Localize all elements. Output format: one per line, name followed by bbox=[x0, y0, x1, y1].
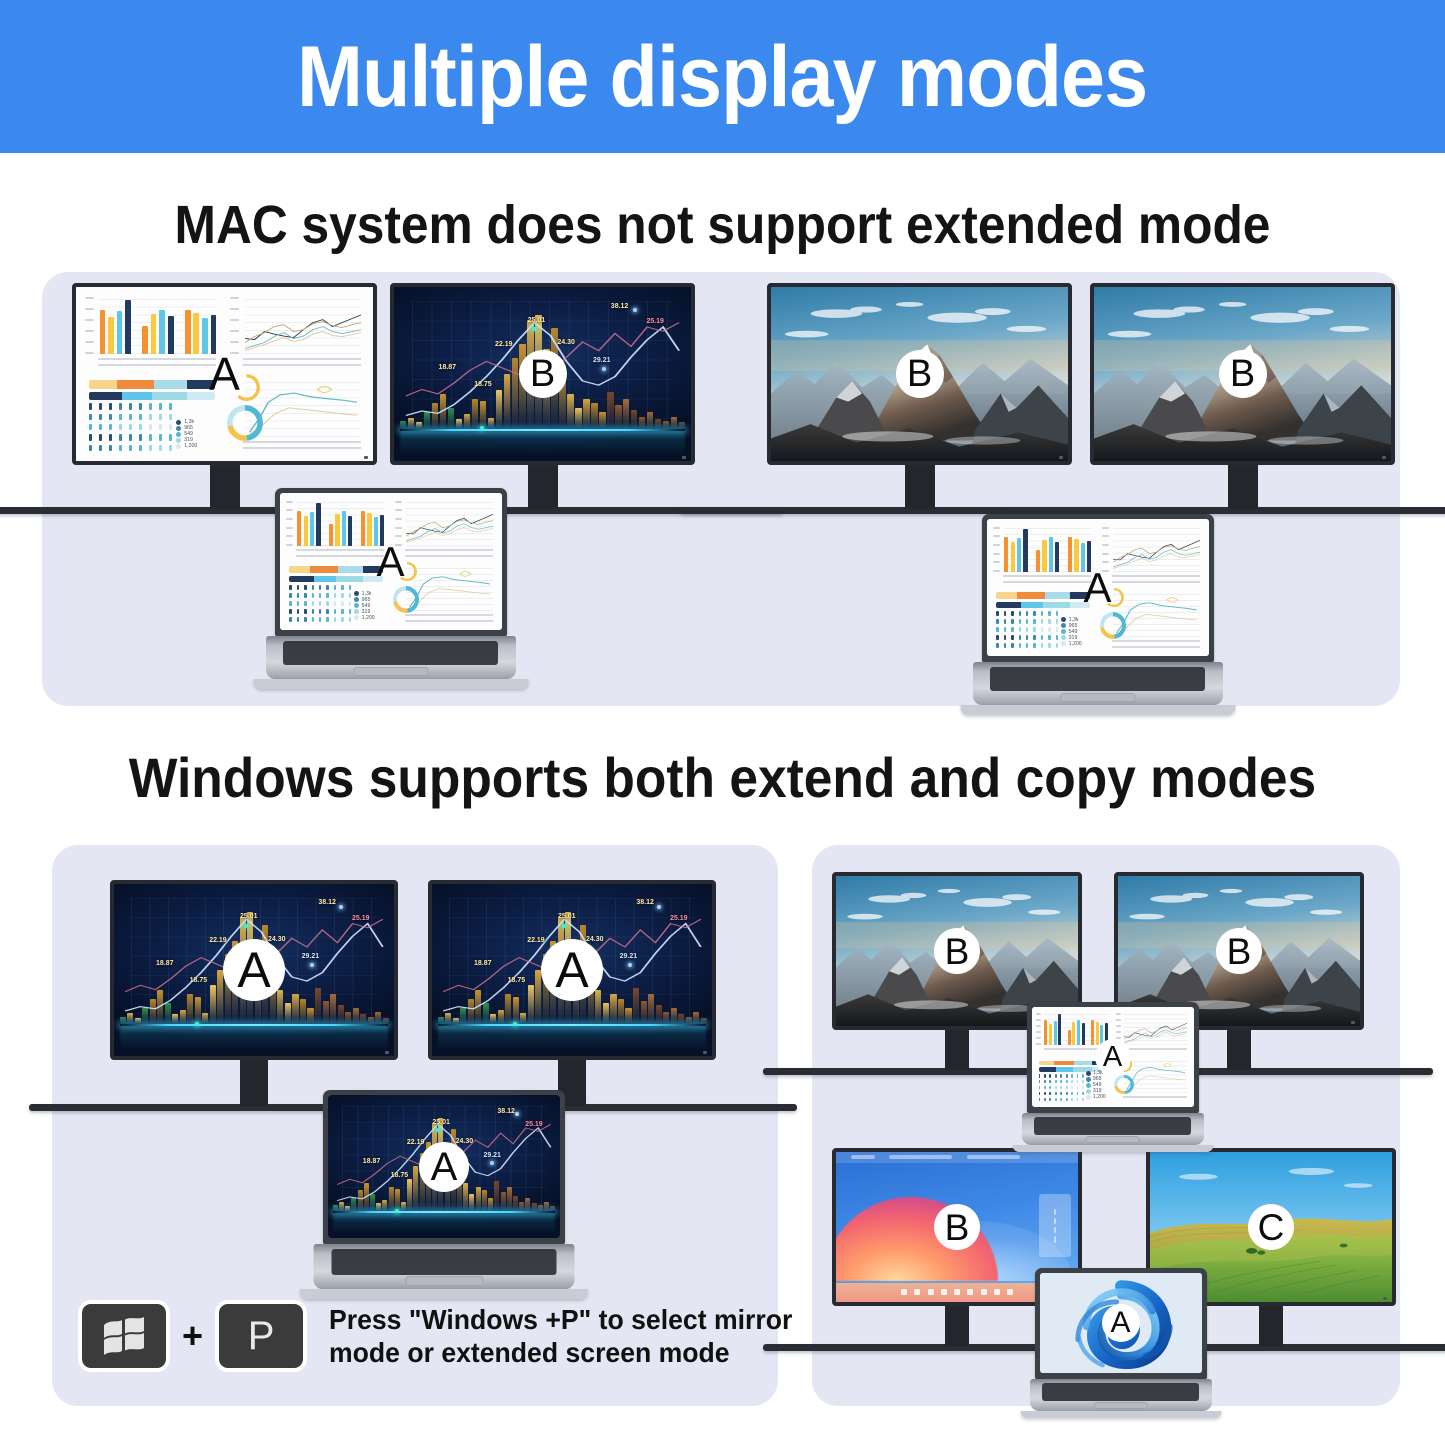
line-chart-caption bbox=[1112, 575, 1200, 583]
side-panel-row bbox=[1054, 1236, 1056, 1242]
bar bbox=[1011, 542, 1015, 571]
bar bbox=[1042, 540, 1046, 572]
dashboard-line-chart bbox=[230, 294, 364, 371]
laptop-keyboard bbox=[990, 667, 1205, 691]
laptop-badge-a: A bbox=[376, 541, 404, 583]
legend-item: 1,200 bbox=[176, 443, 216, 449]
windows-logo-icon bbox=[101, 1314, 147, 1358]
legend-swatch bbox=[176, 438, 181, 443]
monitor-neck bbox=[945, 1028, 969, 1070]
data-label: 18.75 bbox=[508, 977, 526, 984]
laptop-foot bbox=[1020, 1411, 1221, 1418]
detail-chart-caption bbox=[1123, 1096, 1187, 1102]
laptop-lid: 18.8718.7522.1925.0124.3038.1225.1929.21… bbox=[323, 1090, 565, 1244]
laptop-body bbox=[314, 1244, 575, 1289]
data-label: 18.87 bbox=[474, 960, 492, 967]
heatmap-grid bbox=[289, 585, 351, 623]
mac-monitor-a: 1,3k9655493191,200A bbox=[72, 283, 377, 516]
legend-item: 1,200 bbox=[354, 615, 384, 621]
monitor-neck bbox=[1227, 1028, 1251, 1070]
screen-badge-b: B bbox=[934, 928, 980, 974]
bar-chart-caption bbox=[1003, 575, 1091, 583]
data-label: 22.19 bbox=[527, 937, 545, 944]
bar bbox=[361, 511, 365, 546]
taskbar-icon bbox=[967, 1289, 973, 1295]
laptop-foot bbox=[300, 1289, 588, 1299]
taskbar-icon bbox=[941, 1289, 947, 1295]
laptop-keyboard bbox=[283, 641, 498, 665]
data-label: 18.75 bbox=[474, 381, 492, 388]
side-panel-row bbox=[1054, 1227, 1056, 1233]
laptop-screen: 1,3k9655493191,200A bbox=[1032, 1007, 1194, 1107]
legend-label: 1,200 bbox=[184, 443, 197, 449]
bar bbox=[310, 512, 314, 546]
legend-swatch bbox=[1086, 1083, 1091, 1088]
data-label: 25.19 bbox=[352, 915, 370, 922]
legend-swatch bbox=[1061, 641, 1066, 646]
laptop-badge-a: A bbox=[1102, 1304, 1140, 1342]
data-label: 18.87 bbox=[439, 364, 457, 371]
legend-swatch bbox=[1061, 617, 1066, 622]
legend-swatch bbox=[354, 603, 359, 608]
heatmap-legend: 1,3k9655493191,200 bbox=[176, 419, 216, 449]
monitor-screen: B bbox=[767, 283, 1072, 465]
data-point bbox=[195, 1022, 199, 1026]
monitor-neck bbox=[1259, 1304, 1283, 1346]
side-panel-row bbox=[1054, 1218, 1056, 1224]
bar bbox=[1055, 542, 1059, 572]
laptop-keyboard bbox=[1034, 1117, 1191, 1135]
data-label: 29.21 bbox=[620, 953, 638, 960]
laptop-screen: 1,3k9655493191,200A bbox=[987, 519, 1209, 656]
bar bbox=[1082, 1023, 1085, 1045]
dashboard-heatmap: 1,3k9655493191,200 bbox=[993, 590, 1093, 651]
bar bbox=[367, 513, 371, 545]
data-label: 38.12 bbox=[636, 899, 654, 906]
legend-swatch bbox=[1061, 629, 1066, 634]
laptop-body bbox=[1030, 1379, 1212, 1411]
bar-chart-y-axis bbox=[1036, 1013, 1044, 1046]
bar bbox=[342, 511, 346, 545]
bar-chart-y-axis bbox=[286, 501, 297, 546]
plus-sign: + bbox=[182, 1318, 203, 1354]
bar bbox=[159, 310, 165, 354]
stacked-bar-2 bbox=[89, 392, 215, 400]
bar bbox=[1017, 538, 1021, 572]
taskbar-icon bbox=[981, 1289, 987, 1295]
bar bbox=[348, 516, 352, 546]
bar bbox=[151, 314, 157, 354]
detail-chart-caption bbox=[405, 614, 493, 622]
side-panel-row bbox=[1054, 1209, 1056, 1215]
win-extend-monitor-1: 18.8718.7522.1925.0124.3038.1225.1929.21… bbox=[110, 880, 398, 1113]
taskbar-icon bbox=[1007, 1289, 1013, 1295]
bar bbox=[1049, 537, 1053, 571]
legend-label: 1,200 bbox=[362, 615, 375, 621]
laptop: A bbox=[1020, 1268, 1221, 1421]
screen-badge-b: B bbox=[896, 350, 944, 398]
data-label: 24.30 bbox=[557, 339, 575, 346]
screen-badge-b: B bbox=[934, 1204, 980, 1250]
laptop-body bbox=[1022, 1113, 1204, 1145]
data-label: 18.75 bbox=[391, 1172, 409, 1179]
donut-chart-lower bbox=[227, 405, 263, 441]
bar bbox=[1068, 537, 1072, 572]
laptop-lid: 1,3k9655493191,200A bbox=[275, 488, 507, 636]
bar bbox=[329, 524, 333, 546]
data-point bbox=[515, 1112, 519, 1116]
stacked-bar-1 bbox=[289, 566, 383, 573]
legend-swatch bbox=[354, 615, 359, 620]
line-chart-caption bbox=[405, 549, 493, 557]
heatmap-legend: 1,3k9655493191,200 bbox=[1086, 1070, 1108, 1100]
bar bbox=[1077, 1020, 1080, 1045]
monitor-neck bbox=[1228, 463, 1258, 509]
win-extend-monitor-2: 18.8718.7522.1925.0124.3038.1225.1929.21… bbox=[428, 880, 716, 1113]
mac-monitor-b2: B bbox=[767, 283, 1072, 516]
legend-swatch bbox=[354, 591, 359, 596]
bar bbox=[100, 310, 106, 354]
dashboard-bar-chart bbox=[993, 524, 1093, 585]
laptop-lid: A bbox=[1035, 1268, 1207, 1379]
top-bar-item bbox=[889, 1155, 952, 1160]
bar-chart-caption bbox=[98, 358, 216, 369]
top-bar-item bbox=[967, 1155, 1020, 1160]
windows-key[interactable] bbox=[78, 1300, 170, 1372]
bar bbox=[1023, 529, 1027, 572]
bar bbox=[185, 310, 191, 354]
legend-swatch bbox=[1061, 635, 1066, 640]
laptop-keyboard bbox=[332, 1249, 556, 1274]
legend-swatch bbox=[354, 609, 359, 614]
dashboard-bar-chart bbox=[85, 294, 219, 371]
heatmap-grid bbox=[996, 611, 1058, 649]
data-point bbox=[436, 1128, 440, 1132]
laptop-badge-a: A bbox=[419, 1142, 469, 1192]
data-label: 25.01 bbox=[558, 913, 576, 920]
bar bbox=[142, 326, 148, 354]
screen-badge-c: C bbox=[1248, 1204, 1294, 1250]
bar bbox=[1036, 550, 1040, 572]
data-label: 29.21 bbox=[593, 357, 611, 364]
data-label: 38.12 bbox=[497, 1108, 515, 1115]
monitor-screen: 1,3k9655493191,200A bbox=[72, 283, 377, 465]
screen-badge-a: A bbox=[209, 351, 240, 397]
dashboard-heatmap: 1,3k9655493191,200 bbox=[85, 377, 219, 454]
legend-swatch bbox=[1086, 1095, 1091, 1100]
data-point bbox=[244, 924, 248, 928]
laptop-lid: 1,3k9655493191,200A bbox=[1027, 1002, 1199, 1113]
legend-swatch bbox=[176, 432, 181, 437]
data-label: 25.01 bbox=[432, 1119, 450, 1126]
monitor-base bbox=[1003, 507, 1445, 514]
top-bar-item bbox=[851, 1155, 875, 1160]
data-label: 25.01 bbox=[528, 317, 546, 324]
legend-label: 1,200 bbox=[1093, 1094, 1106, 1100]
legend-item: 1,200 bbox=[1086, 1094, 1108, 1100]
data-label: 18.87 bbox=[363, 1158, 381, 1165]
line-chart-caption bbox=[1123, 1048, 1187, 1054]
taskbar-icon bbox=[994, 1289, 1000, 1295]
screen-badge-a: A bbox=[223, 939, 285, 1001]
bar-chart-y-axis bbox=[85, 297, 100, 354]
dashboard-line-chart bbox=[1102, 524, 1202, 585]
bar-chart-caption bbox=[296, 549, 384, 557]
bar bbox=[1096, 1022, 1099, 1046]
data-label: 18.87 bbox=[156, 960, 174, 967]
detail-chart-caption bbox=[1112, 640, 1200, 648]
laptop: 1,3k9655493191,200A bbox=[960, 514, 1235, 718]
data-label: 22.19 bbox=[209, 937, 227, 944]
taskbar-icon bbox=[914, 1289, 920, 1295]
page-title: Multiple display modes bbox=[297, 34, 1147, 120]
laptop-foot bbox=[1012, 1145, 1213, 1152]
legend-swatch bbox=[354, 597, 359, 602]
data-label: 25.01 bbox=[240, 913, 258, 920]
laptop-foot bbox=[253, 679, 528, 689]
section-heading-mac: MAC system does not support extended mod… bbox=[58, 198, 1387, 252]
monitor-neck bbox=[240, 1058, 268, 1106]
bar bbox=[108, 317, 114, 354]
bar bbox=[297, 511, 301, 546]
laptop-trackpad bbox=[1060, 693, 1135, 702]
screen-badge-a: A bbox=[541, 939, 603, 1001]
monitor-neck bbox=[905, 463, 935, 509]
mac-monitor-b: 18.8718.7522.1925.0124.3038.1225.1929.21… bbox=[390, 283, 695, 516]
stacked-bar-1 bbox=[89, 380, 215, 388]
bar bbox=[1091, 1020, 1094, 1045]
legend-item: 1,200 bbox=[1061, 641, 1091, 647]
legend-swatch bbox=[1086, 1071, 1091, 1076]
bar bbox=[304, 516, 308, 545]
legend-swatch bbox=[176, 444, 181, 449]
donut-chart-lower bbox=[1100, 612, 1127, 639]
windows-p-shortcut-hint: + P Press "Windows +P" to select mirror … bbox=[78, 1300, 817, 1372]
bar bbox=[193, 313, 199, 354]
bar bbox=[1054, 1021, 1057, 1046]
detail-chart-caption bbox=[243, 441, 361, 452]
data-point bbox=[602, 367, 606, 371]
laptop-badge-a: A bbox=[1095, 1039, 1131, 1075]
p-key-label: P bbox=[248, 1316, 275, 1356]
screen-badge-b: B bbox=[1216, 928, 1262, 974]
bar-chart-y-axis bbox=[993, 527, 1004, 572]
mac-monitor-b3: B bbox=[1090, 283, 1395, 516]
bar bbox=[117, 311, 123, 354]
taskbar-icon bbox=[954, 1289, 960, 1295]
data-label: 38.12 bbox=[318, 899, 336, 906]
screen-badge-b: B bbox=[1219, 350, 1267, 398]
monitor-screen: 18.8718.7522.1925.0124.3038.1225.1929.21… bbox=[428, 880, 716, 1060]
laptop-keyboard bbox=[1042, 1383, 1199, 1401]
data-label: 24.30 bbox=[456, 1138, 474, 1145]
p-key[interactable]: P bbox=[215, 1300, 307, 1372]
header-bar: Multiple display modes bbox=[0, 0, 1445, 153]
laptop-badge-a: A bbox=[1083, 567, 1111, 609]
data-label: 38.12 bbox=[611, 303, 629, 310]
bar bbox=[1044, 1020, 1047, 1045]
monitor-screen: B bbox=[1090, 283, 1395, 465]
monitor-neck bbox=[210, 463, 240, 509]
bar bbox=[335, 514, 339, 546]
stacked-bar-1 bbox=[996, 592, 1090, 599]
laptop-trackpad bbox=[405, 1276, 483, 1286]
data-label: 22.19 bbox=[407, 1139, 425, 1146]
bar bbox=[168, 316, 174, 354]
bar bbox=[1004, 537, 1008, 572]
taskbar-icon bbox=[928, 1289, 934, 1295]
laptop-body bbox=[266, 636, 516, 679]
laptop-screen: 18.8718.7522.1925.0124.3038.1225.1929.21… bbox=[328, 1095, 560, 1238]
stacked-bar-2 bbox=[996, 602, 1090, 609]
legend-swatch bbox=[1086, 1089, 1091, 1094]
laptop: 1,3k9655493191,200A bbox=[253, 488, 528, 692]
data-label: 25.19 bbox=[670, 915, 688, 922]
legend-swatch bbox=[176, 426, 181, 431]
bar bbox=[316, 503, 320, 546]
heatmap-legend: 1,3k9655493191,200 bbox=[1061, 617, 1091, 647]
bar bbox=[125, 300, 131, 354]
shortcut-instruction-text: Press "Windows +P" to select mirror mode… bbox=[329, 1303, 792, 1369]
data-label: 29.21 bbox=[483, 1152, 501, 1159]
monitor-screen: 18.8718.7522.1925.0124.3038.1225.1929.21… bbox=[110, 880, 398, 1060]
bar bbox=[1072, 1022, 1075, 1045]
donut-chart-lower bbox=[393, 586, 420, 613]
screen-badge-b: B bbox=[519, 350, 567, 398]
laptop-screen: A bbox=[1040, 1273, 1202, 1373]
dashboard-bar-chart bbox=[286, 498, 386, 559]
data-point bbox=[633, 308, 637, 312]
heatmap-legend: 1,3k9655493191,200 bbox=[354, 591, 384, 621]
laptop-foot bbox=[960, 705, 1235, 715]
laptop: 1,3k9655493191,200A bbox=[1012, 1002, 1213, 1155]
bar bbox=[202, 318, 208, 354]
dashboard-heatmap: 1,3k9655493191,200 bbox=[286, 564, 386, 625]
data-label: 22.19 bbox=[495, 341, 513, 348]
monitor-neck bbox=[528, 463, 558, 509]
data-label: 18.75 bbox=[190, 977, 208, 984]
laptop-trackpad bbox=[1093, 1402, 1148, 1409]
bar bbox=[1068, 1030, 1071, 1046]
monitor-screen: 18.8718.7522.1925.0124.3038.1225.1929.21… bbox=[390, 283, 695, 465]
laptop-body bbox=[973, 662, 1223, 705]
bar bbox=[1058, 1014, 1061, 1045]
legend-swatch bbox=[1086, 1077, 1091, 1082]
data-label: 29.21 bbox=[302, 953, 320, 960]
section-heading-windows: Windows supports both extend and copy mo… bbox=[58, 750, 1387, 806]
data-label: 25.19 bbox=[646, 318, 664, 325]
line-chart-caption bbox=[243, 358, 361, 369]
monitor-neck bbox=[945, 1304, 969, 1346]
laptop: 18.8718.7522.1925.0124.3038.1225.1929.21… bbox=[300, 1090, 588, 1302]
legend-swatch bbox=[1061, 623, 1066, 628]
bar bbox=[1074, 539, 1078, 571]
data-point bbox=[513, 1022, 517, 1026]
legend-swatch bbox=[176, 420, 181, 425]
laptop-trackpad bbox=[1085, 1136, 1140, 1143]
laptop-trackpad bbox=[353, 667, 428, 676]
desktop-side-panel bbox=[1039, 1194, 1070, 1257]
line-chart-y-axis bbox=[230, 297, 245, 354]
taskbar-icon bbox=[901, 1289, 907, 1295]
data-label: 25.19 bbox=[525, 1121, 543, 1128]
legend-label: 1,200 bbox=[1069, 641, 1082, 647]
bar bbox=[1049, 1024, 1052, 1045]
dashboard-line-chart bbox=[395, 498, 495, 559]
data-point bbox=[562, 924, 566, 928]
heatmap-grid bbox=[89, 403, 172, 451]
laptop-screen: 1,3k9655493191,200A bbox=[280, 493, 502, 630]
stacked-bar-2 bbox=[289, 576, 383, 583]
laptop-lid: 1,3k9655493191,200A bbox=[982, 514, 1214, 662]
heatmap-grid bbox=[1039, 1074, 1084, 1101]
